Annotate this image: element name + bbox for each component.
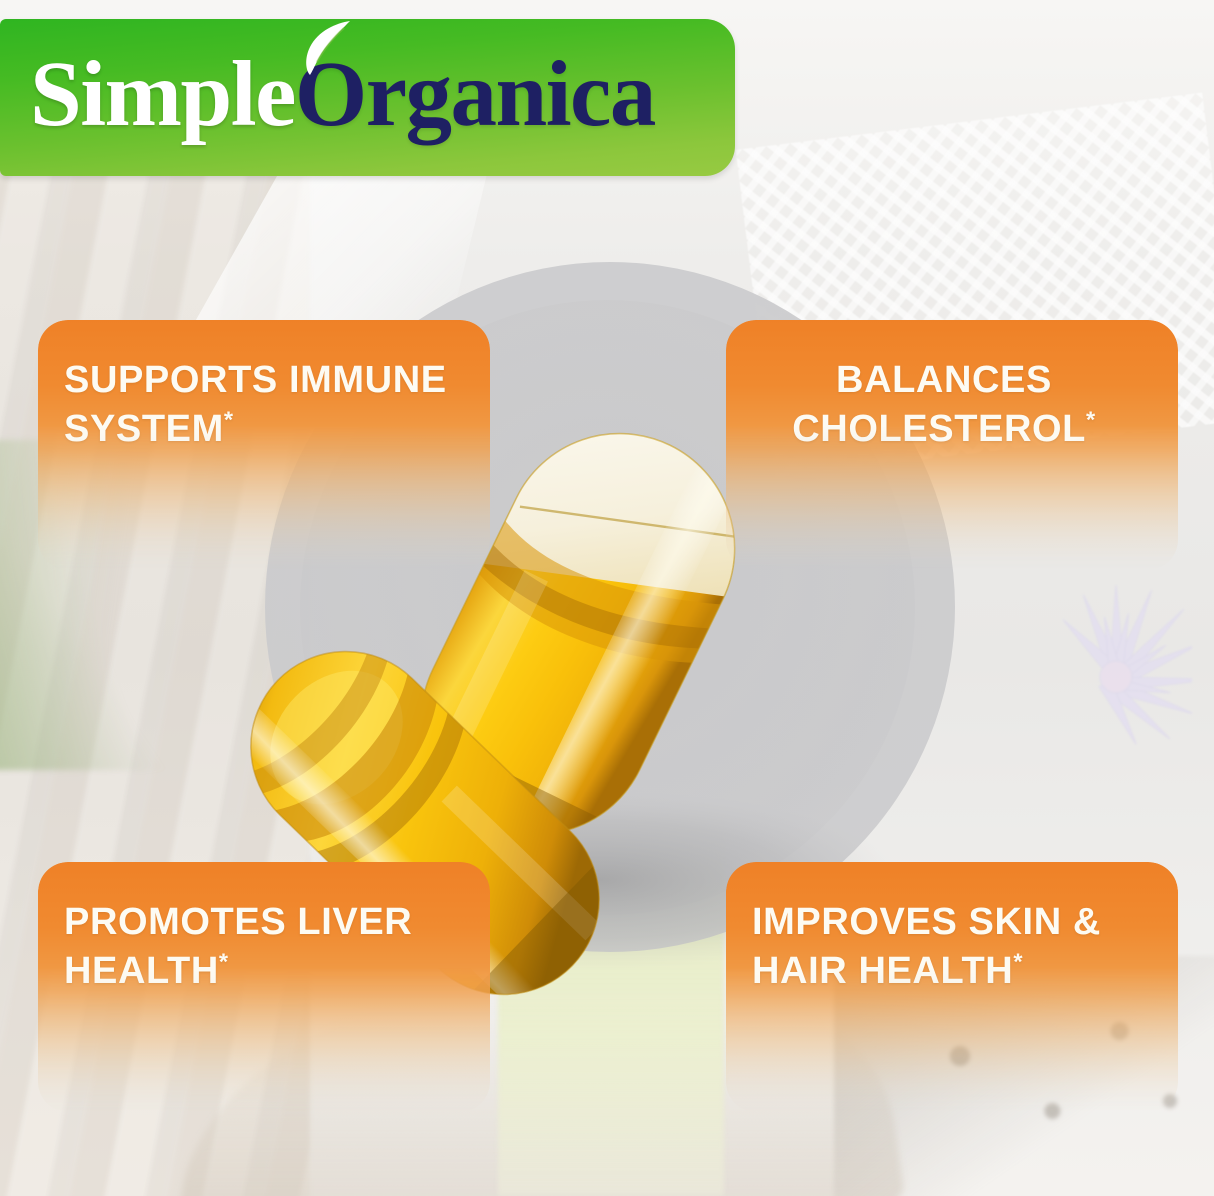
benefit-label: IMPROVES SKIN &HAIR HEALTH* <box>752 898 1148 996</box>
benefit-label: BALANCESCHOLESTEROL* <box>752 356 1148 454</box>
product-infographic: SUPPORTS IMMUNESYSTEM* BALANCESCHOLESTER… <box>0 0 1214 1196</box>
asterisk-marker: * <box>1086 406 1096 432</box>
asterisk-marker: * <box>1013 948 1023 974</box>
brand-wordmark: Simple Organica <box>30 45 655 145</box>
asterisk-marker: * <box>219 948 229 974</box>
benefit-label: SUPPORTS IMMUNESYSTEM* <box>64 356 460 454</box>
brand-logo-banner: Simple Organica <box>0 19 735 176</box>
benefit-badge-supports-immune-system: SUPPORTS IMMUNESYSTEM* <box>38 320 490 570</box>
benefit-label: PROMOTES LIVERHEALTH* <box>64 898 460 996</box>
benefit-badge-improves-skin-hair-health: IMPROVES SKIN &HAIR HEALTH* <box>726 862 1178 1112</box>
benefit-badge-promotes-liver-health: PROMOTES LIVERHEALTH* <box>38 862 490 1112</box>
benefit-badge-balances-cholesterol: BALANCESCHOLESTEROL* <box>726 320 1178 570</box>
asterisk-marker: * <box>224 406 234 432</box>
brand-name-light: Simple <box>30 45 295 145</box>
brand-name-dark: Organica <box>295 45 655 145</box>
